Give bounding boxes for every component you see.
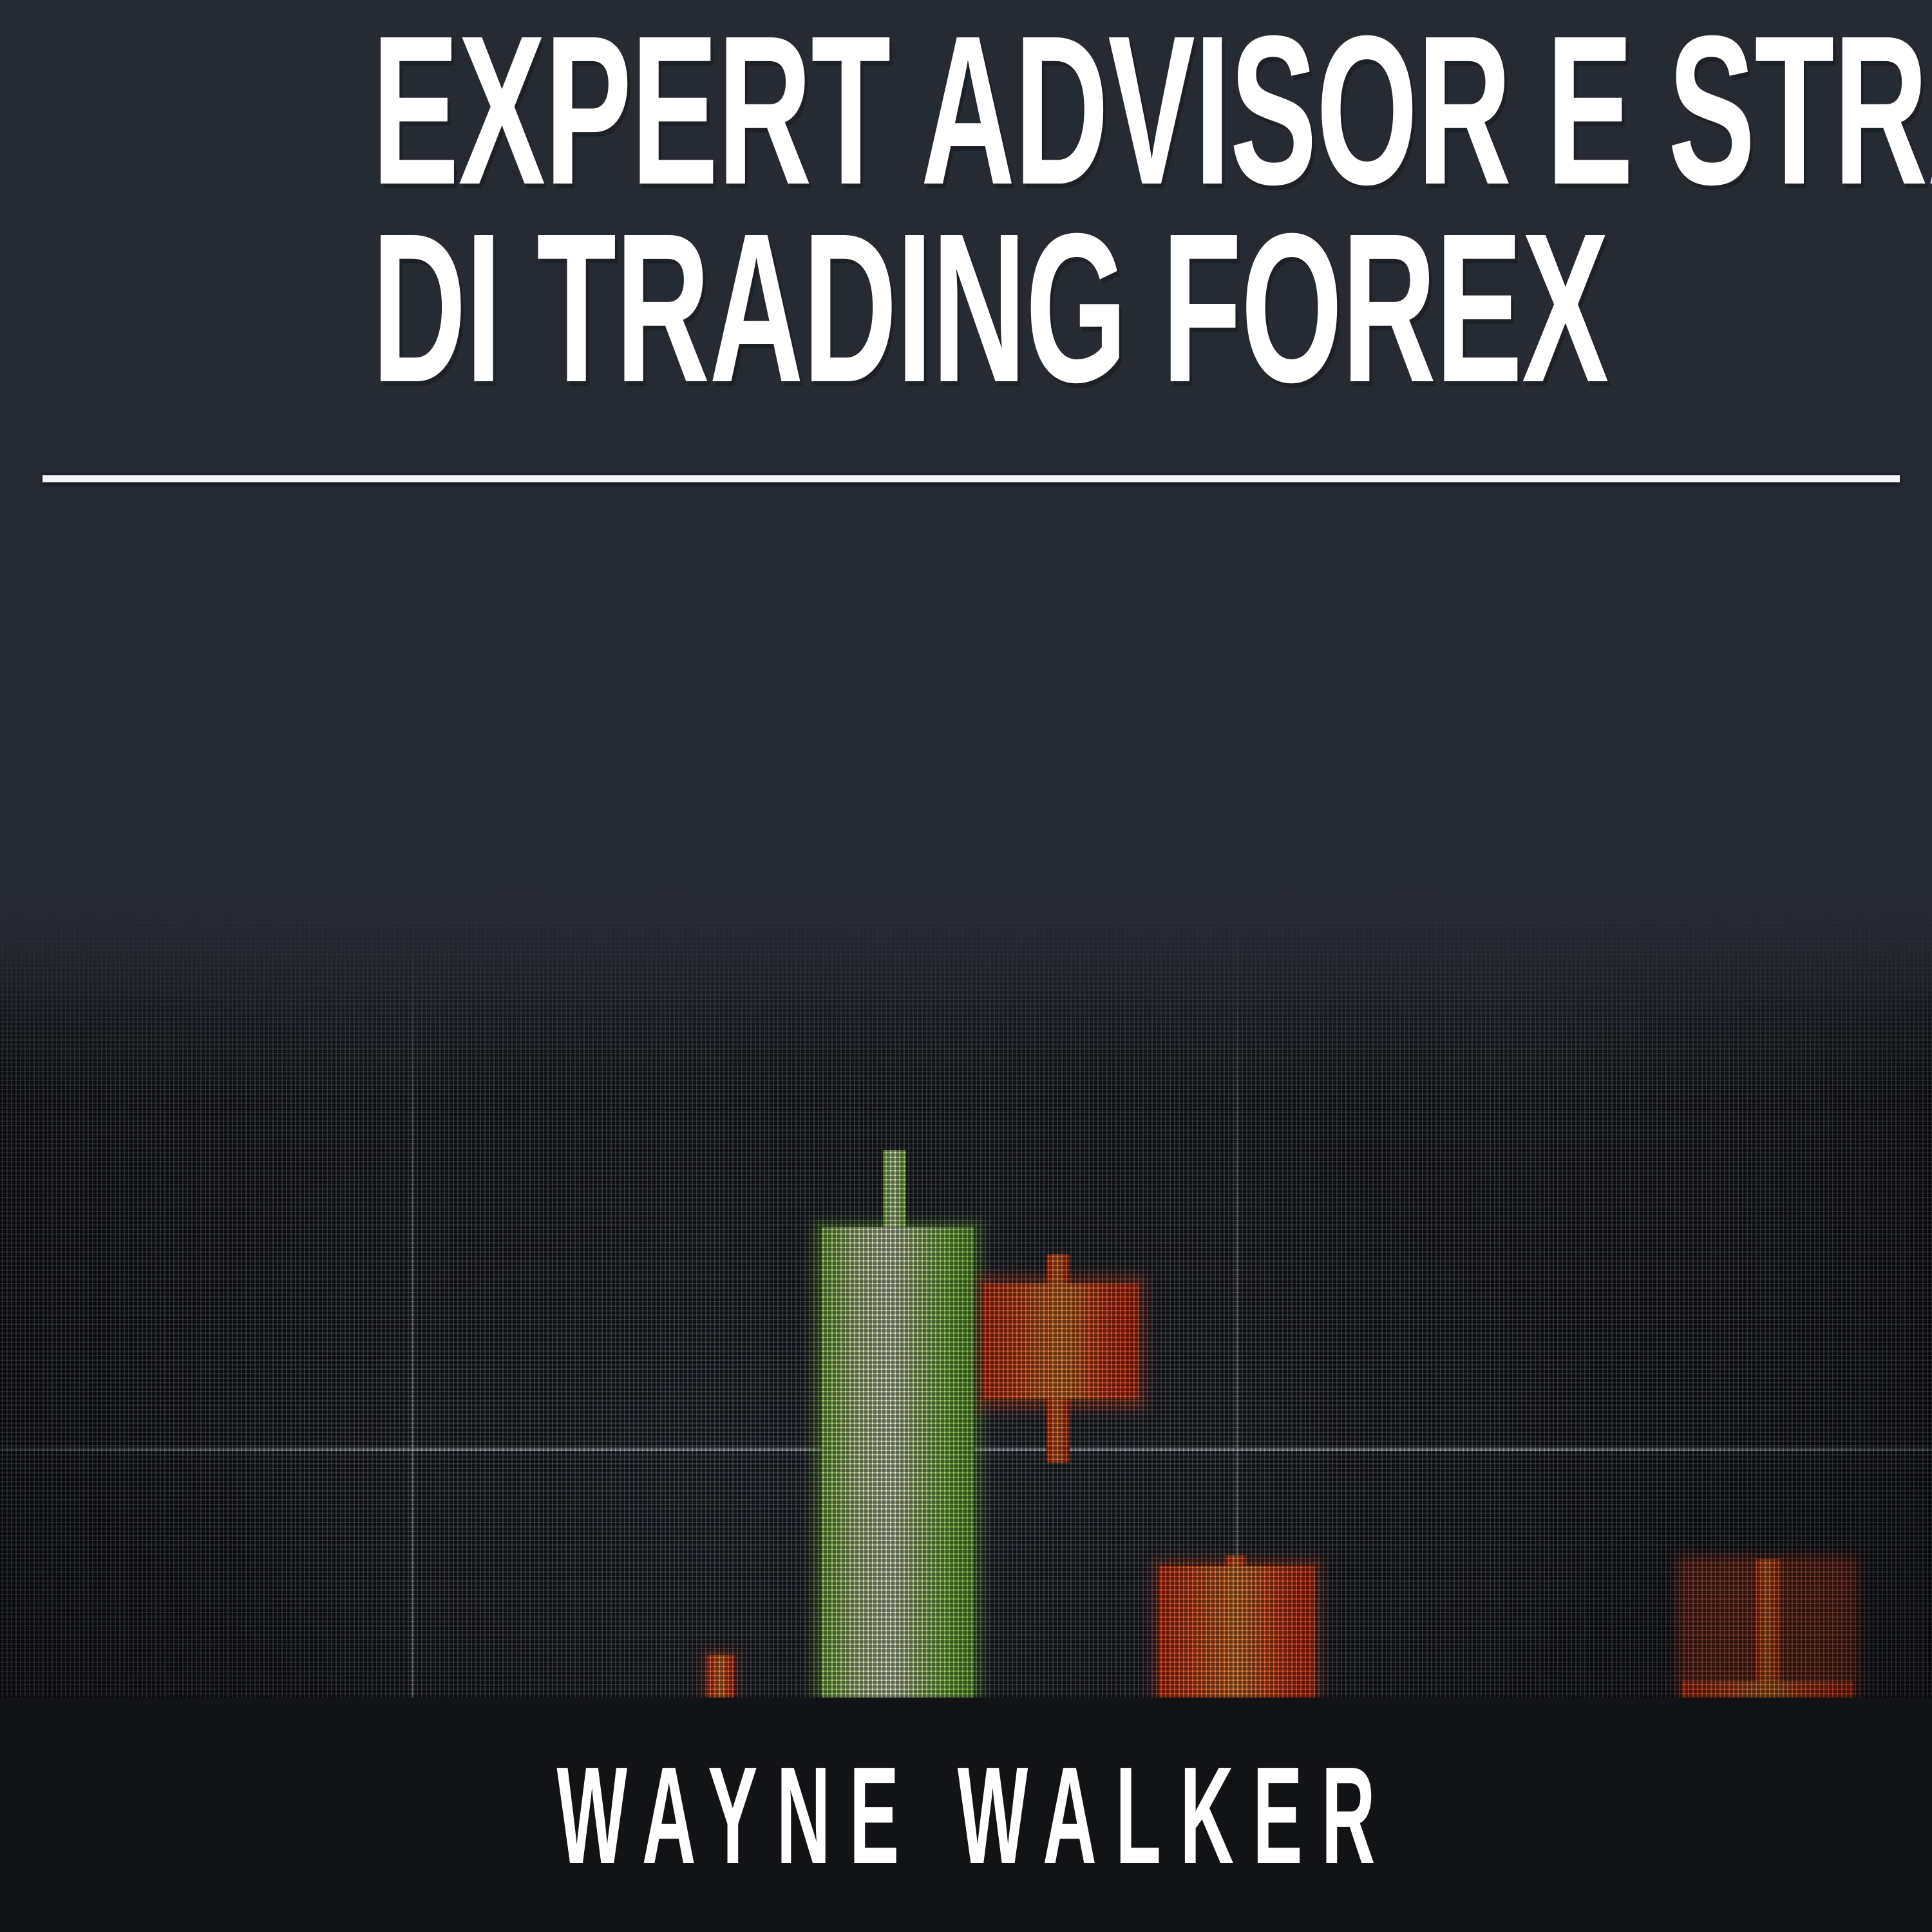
candle-body-4 <box>1159 1566 1315 1700</box>
book-cover: EXPERT ADVISOR E STRATEGIE DI TRADING FO… <box>0 0 1932 1932</box>
candle-body-2 <box>822 1227 974 1700</box>
page-title: EXPERT ADVISOR E STRATEGIE DI TRADING FO… <box>0 12 1932 407</box>
title-line-1: EXPERT ADVISOR E STRATEGIE <box>372 12 1560 209</box>
author-name: WAYNE WALKER <box>538 1746 1394 1884</box>
candle-wick-2 <box>883 1150 906 1234</box>
title-divider-rule <box>43 475 1900 482</box>
candle-body-1 <box>707 1655 734 1700</box>
candle-wick-5 <box>1756 1559 1781 1681</box>
chart-gridline-vertical-1 <box>411 889 414 1700</box>
title-line-2: DI TRADING FOREX <box>372 209 1560 407</box>
candle-body-3 <box>983 1283 1139 1399</box>
author-band: WAYNE WALKER <box>0 1698 1932 1932</box>
chart-top-fade-overlay <box>0 889 1932 1101</box>
trading-chart-photo <box>0 889 1932 1700</box>
